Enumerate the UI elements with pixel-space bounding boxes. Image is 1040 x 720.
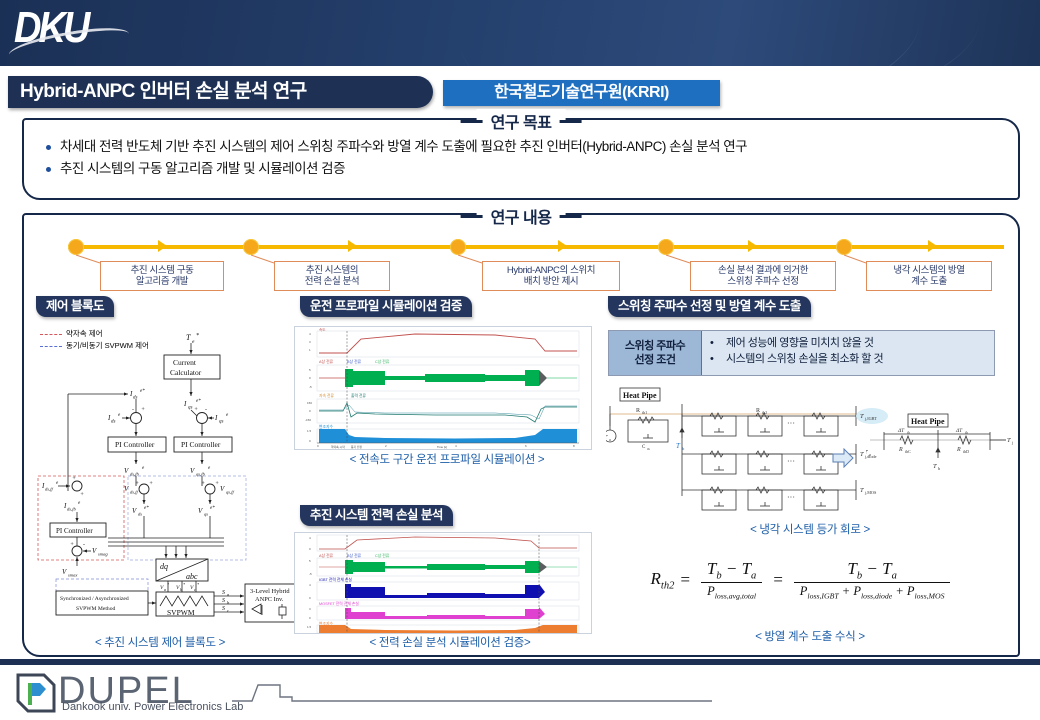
simplified-thermal-circuit: Heat Pipe R thC R thD ΔT th ΔT th T <box>866 392 1016 502</box>
svg-text:출력 전류: 출력 전류 <box>351 393 367 398</box>
svg-text:T: T <box>866 449 868 456</box>
list-item: 추진 시스템의 구동 알고리즘 개발 및 시뮬레이션 검증 <box>42 160 1008 178</box>
svg-text:-150: -150 <box>305 418 311 422</box>
svg-text:e: e <box>192 339 195 345</box>
svg-text:동기 전환: 동기 전환 <box>351 445 362 449</box>
list-item: 차세대 전력 반도체 기반 추진 시스템의 제어 스위칭 주파수와 방열 계수 … <box>42 138 1008 156</box>
svg-text:S: S <box>222 606 225 612</box>
svg-text:e: e <box>142 466 145 471</box>
svg-text:R: R <box>636 408 640 414</box>
svg-text:-: - <box>83 542 85 548</box>
dupel-mark-icon <box>14 671 58 715</box>
svg-text:ds,fb: ds,fb <box>67 507 77 513</box>
svg-text:smax: smax <box>68 573 77 578</box>
table-row: • 제어 성능에 영향을 미치치 않을 것 <box>710 335 988 351</box>
svg-text:SVPWM Method: SVPWM Method <box>76 606 116 612</box>
table-row: • 시스템의 스위칭 손실을 최소화 할 것 <box>710 351 988 367</box>
svg-text:PI Controller: PI Controller <box>115 440 155 449</box>
svg-text:C상 전류: C상 전류 <box>375 359 390 364</box>
svg-text:abc: abc <box>186 572 198 581</box>
timeline-label-3: Hybrid-ANPC의 스위치배치 방안 제시 <box>482 261 620 291</box>
svg-text:+: + <box>72 476 76 482</box>
condition-item-1: 제어 성능에 영향을 미치치 않을 것 <box>726 335 873 351</box>
svg-text:+: + <box>70 542 74 548</box>
svg-text:B상 전류: B상 전류 <box>347 553 362 558</box>
svg-text:+: + <box>141 407 145 413</box>
partner-badge-label: 한국철도기술연구원(KRRI) <box>443 80 720 106</box>
svg-text:T: T <box>860 413 864 420</box>
svg-text:Time [s]: Time [s] <box>437 445 447 449</box>
svg-text:dq: dq <box>160 562 168 571</box>
svg-text:+: + <box>194 407 198 413</box>
svg-text:0: 0 <box>309 439 311 443</box>
svg-text:0: 0 <box>317 444 319 448</box>
power-loss-plot: A상 전류 B상 전류 C상 전류 IGBT 전력 전체 손실 <box>294 532 592 634</box>
power-loss-svg: A상 전류 B상 전류 C상 전류 IGBT 전력 전체 손실 <box>295 533 591 633</box>
svg-text:Heat Pipe: Heat Pipe <box>623 391 657 400</box>
research-timeline: 추진 시스템 구동알고리즘 개발 추진 시스템의전력 손실 분석 Hybrid-… <box>38 229 1004 291</box>
section-badge-control-block: 제어 블록도 <box>36 296 114 317</box>
svg-text:thC: thC <box>905 449 911 454</box>
svg-text:ds: ds <box>111 420 116 425</box>
caption-formula: < 방열 계수 도출 수식 > <box>660 628 960 644</box>
timeline-label-5: 냉각 시스템의 방열계수 도출 <box>866 261 992 291</box>
svg-text:속도: 속도 <box>319 327 326 332</box>
svg-text:a: a <box>869 452 871 457</box>
slide-page: DKU Hybrid-ANPC 인버터 손실 분석 연구 한국철도기술연구원(K… <box>0 0 1040 720</box>
timeline-node-5 <box>836 239 852 255</box>
timeline-node-4 <box>658 239 674 255</box>
section-badge-label: 제어 블록도 <box>36 296 114 317</box>
svg-text:e: e <box>208 466 211 471</box>
svg-text:···: ··· <box>787 419 795 428</box>
svg-text:ΔT: ΔT <box>955 428 963 434</box>
svg-text:R: R <box>956 447 961 453</box>
timeline-node-3 <box>450 239 466 255</box>
research-goal-list: 차세대 전력 반도체 기반 추진 시스템의 제어 스위칭 주파수와 방열 계수 … <box>42 138 1008 182</box>
svg-text:a: a <box>609 437 611 442</box>
svg-text:PI Controller: PI Controller <box>181 440 221 449</box>
svg-text:B상 전류: B상 전류 <box>347 359 362 364</box>
svg-text:e*: e* <box>210 506 215 511</box>
svg-text:0: 0 <box>309 596 311 600</box>
timeline-arrow-1-icon <box>158 240 167 252</box>
svg-text:150: 150 <box>307 401 312 405</box>
svg-text:5: 5 <box>309 368 311 372</box>
svg-text:-: - <box>132 407 134 413</box>
svg-text:ds: ds <box>133 396 138 401</box>
svg-text:···: ··· <box>787 493 795 502</box>
caption-speed-profile: < 전속도 구간 운전 프로파일 시뮬레이션 > <box>322 451 572 467</box>
formula-denominator-1: Ploss,avg,total <box>701 582 762 601</box>
svg-text:th: th <box>907 431 910 435</box>
svg-text:MOSFET 전력 전체 손실: MOSFET 전력 전체 손실 <box>319 601 359 606</box>
formula-fraction-2: Tb − Ta Ploss,IGBT + Ploss,diode + Ploss… <box>794 559 951 601</box>
svg-text:b: b <box>180 587 182 592</box>
svg-text:ΔT: ΔT <box>897 428 905 434</box>
svg-text:ds,ff: ds,ff <box>130 490 139 496</box>
timeline-node-1 <box>68 239 84 255</box>
heat-dissipation-formula: Rth2 = Tb − Ta Ploss,avg,total = Tb − Ta… <box>610 552 996 608</box>
simplified-circuit-svg: Heat Pipe R thC R thD ΔT th ΔT th T <box>866 392 1016 502</box>
svg-text:3-Level Hybrid: 3-Level Hybrid <box>250 588 290 595</box>
svg-text:R: R <box>898 447 903 453</box>
svg-text:IGBT 전력 전체 손실: IGBT 전력 전체 손실 <box>319 577 352 582</box>
svg-text:e: e <box>56 481 59 486</box>
condition-item-2: 시스템의 스위칭 손실을 최소화 할 것 <box>726 351 883 367</box>
svg-text:-5: -5 <box>309 385 312 389</box>
block-diagram-svg: Te* Current Calculator Iqse* Idse* -+ Id… <box>36 326 304 624</box>
research-content-title: 연구 내용 <box>477 204 566 228</box>
svg-text:T: T <box>860 487 864 494</box>
svg-text:V: V <box>190 467 195 475</box>
top-banner: DKU <box>0 0 1040 66</box>
condition-table-body: • 제어 성능에 영향을 미치치 않을 것 • 시스템의 스위칭 손실을 최소화… <box>702 331 994 375</box>
svg-text:SVPWM: SVPWM <box>167 608 195 617</box>
svg-text:th: th <box>647 447 650 451</box>
svg-text:e*: e* <box>196 399 201 404</box>
svg-text:c: c <box>194 587 196 592</box>
section-badge-label: 스위칭 주파수 선정 및 방열 계수 도출 <box>608 296 811 317</box>
svg-text:V: V <box>124 485 129 493</box>
svg-text:+: + <box>135 481 139 487</box>
section-badge-profile-sim: 운전 프로파일 시뮬레이션 검증 <box>300 296 472 317</box>
formula-denominator-2: Ploss,IGBT + Ploss,diode + Ploss,MOS <box>794 582 951 601</box>
svg-text:e*: e* <box>140 389 145 394</box>
svg-text:V: V <box>124 467 129 475</box>
svg-text:V: V <box>92 547 97 555</box>
timeline-axis <box>68 245 1004 249</box>
goal-bullet-1: 차세대 전력 반도체 기반 추진 시스템의 제어 스위칭 주파수와 방열 계수 … <box>60 138 747 156</box>
svg-text:ds,ff: ds,ff <box>45 487 54 493</box>
dupel-tagline: Dankook univ. Power Electronics Lab <box>62 701 243 713</box>
caption-power-loss: < 전력 손실 분석 시뮬레이션 검증> <box>330 634 570 650</box>
svg-text:V: V <box>198 507 203 515</box>
svg-text:S: S <box>222 598 225 604</box>
svg-text:ds,fb: ds,fb <box>130 472 140 478</box>
svg-text:qs: qs <box>188 406 193 411</box>
svg-text:0: 0 <box>309 616 311 620</box>
svg-text:PI Controller: PI Controller <box>56 527 93 535</box>
svg-text:thD: thD <box>963 449 969 454</box>
svg-text:-5: -5 <box>309 572 312 576</box>
svg-text:*: * <box>167 582 169 587</box>
timeline-label-1: 추진 시스템 구동알고리즘 개발 <box>100 261 224 291</box>
switching-condition-table: 스위칭 주파수 선정 조건 • 제어 성능에 영향을 미치치 않을 것 • 시스… <box>608 330 995 376</box>
dku-logo: DKU <box>14 6 124 60</box>
svg-text:ds: ds <box>138 512 142 517</box>
footer: DUPEL Dankook univ. Power Electronics La… <box>0 659 1040 720</box>
svg-text:T: T <box>676 442 681 450</box>
svg-text:Heat Pipe: Heat Pipe <box>911 417 945 426</box>
svg-text:3: 3 <box>309 607 311 611</box>
speed-profile-svg: 속도 A상 전류 B상 전류 C상 전류 자속 전류 출력 전류 <box>295 327 591 449</box>
svg-text:T: T <box>606 435 608 441</box>
svg-text:5: 5 <box>309 559 311 563</box>
svg-text:*: * <box>197 582 199 587</box>
svg-text:C상 전류: C상 전류 <box>375 553 390 558</box>
svg-text:1: 1 <box>309 348 311 352</box>
svg-text:2: 2 <box>385 444 387 448</box>
footer-strip <box>0 659 1040 665</box>
timeline-arrow-2-icon <box>348 240 357 252</box>
svg-text:C: C <box>642 445 646 450</box>
page-title: Hybrid-ANPC 인버터 손실 분석 연구 <box>8 76 433 108</box>
svg-text:4: 4 <box>309 332 311 336</box>
speed-profile-plot: 속도 A상 전류 B상 전류 C상 전류 자속 전류 출력 전류 <box>294 326 592 450</box>
svg-text:e: e <box>118 413 121 418</box>
svg-text:e: e <box>226 413 229 418</box>
banner-swoosh-2 <box>456 0 985 66</box>
svg-text:T: T <box>860 451 864 458</box>
condition-header-line2: 선정 조건 <box>625 353 685 367</box>
svg-text:*: * <box>183 582 185 587</box>
svg-text:0: 0 <box>309 376 311 380</box>
svg-text:1.5: 1.5 <box>307 625 312 629</box>
svg-text:4: 4 <box>309 536 311 540</box>
timeline-label-2: 추진 시스템의전력 손실 분석 <box>274 261 390 291</box>
svg-text:qs,fb: qs,fb <box>196 472 206 478</box>
research-goal-title: 연구 목표 <box>477 109 566 133</box>
svg-text:0: 0 <box>309 409 311 413</box>
svg-text:e: e <box>78 501 81 506</box>
bullet-dot-icon: • <box>710 335 726 351</box>
svg-text:qs,ff: qs,ff <box>226 490 235 496</box>
control-block-diagram-figure: 약자속 제어 동기/비동기 SVPWM 제어 Te* <box>36 326 304 624</box>
svg-text:j: j <box>1011 440 1013 445</box>
svg-text:V: V <box>220 485 225 493</box>
svg-text:6: 6 <box>525 444 527 448</box>
svg-text:I: I <box>183 400 187 408</box>
svg-text:qs: qs <box>219 420 224 425</box>
timeline-arrow-5-icon <box>928 240 937 252</box>
section-badge-switching-freq: 스위칭 주파수 선정 및 방열 계수 도출 <box>608 296 811 317</box>
formula-fraction-1: Tb − Ta Ploss,avg,total <box>701 559 762 601</box>
svg-text:th: th <box>965 431 968 435</box>
svg-text:···: ··· <box>787 457 795 466</box>
transform-arrow-icon <box>832 448 854 473</box>
svg-text:b: b <box>938 466 940 471</box>
svg-text:c: c <box>227 608 229 613</box>
goal-bullet-2: 추진 시스템의 구동 알고리즘 개발 및 시뮬레이션 검증 <box>60 160 345 178</box>
timeline-arrow-4-icon <box>748 240 757 252</box>
svg-text:A상 전류: A상 전류 <box>319 553 334 558</box>
svg-text:T: T <box>933 463 937 470</box>
formula-numerator-2: Tb − Ta <box>841 559 902 582</box>
svg-text:Calculator: Calculator <box>170 368 202 377</box>
svg-text:S: S <box>222 590 225 596</box>
caption-thermal-circuit: < 냉각 시스템 등가 회로 > <box>660 521 960 537</box>
svg-text:e*: e* <box>144 506 149 511</box>
svg-text:A상 전류: A상 전류 <box>319 359 334 364</box>
timeline-arrow-3-icon <box>558 240 567 252</box>
svg-text:*: * <box>196 333 199 339</box>
svg-text:qs: qs <box>204 512 208 517</box>
svg-text:변조지수: 변조지수 <box>319 424 333 429</box>
timeline-label-4: 손실 분석 결과에 의거한스위칭 주파수 선정 <box>690 261 836 291</box>
section-badge-label: 운전 프로파일 시뮬레이션 검증 <box>300 296 472 317</box>
bullet-dot-icon: • <box>710 351 726 367</box>
caption-block-diagram: < 추진 시스템 제어 블록도 > <box>60 634 260 650</box>
svg-text:V: V <box>132 507 137 515</box>
partner-badge: 한국철도기술연구원(KRRI) <box>443 80 720 106</box>
research-goal-panel: 연구 목표 차세대 전력 반도체 기반 추진 시스템의 제어 스위칭 주파수와 … <box>22 118 1020 200</box>
svg-text:약자속 시작: 약자속 시작 <box>331 445 345 449</box>
svg-text:+: + <box>201 481 205 487</box>
formula-lhs: Rth2 <box>651 569 675 591</box>
section-badge-label: 추진 시스템 전력 손실 분석 <box>300 505 453 526</box>
svg-text:ANPC Inv.: ANPC Inv. <box>255 596 284 603</box>
svg-text:-: - <box>205 407 207 413</box>
svg-text:I: I <box>214 414 218 422</box>
condition-header-line1: 스위칭 주파수 <box>625 339 685 353</box>
slide-title-tab: Hybrid-ANPC 인버터 손실 분석 연구 <box>8 76 433 108</box>
bullet-dot-icon <box>46 145 51 150</box>
svg-text:T: T <box>1007 437 1011 444</box>
formula-numerator-1: Tb − Ta <box>701 559 762 582</box>
svg-text:4: 4 <box>455 444 457 448</box>
svg-text:4: 4 <box>309 583 311 587</box>
svg-text:T: T <box>186 333 191 342</box>
svg-text:a: a <box>164 587 166 592</box>
svg-text:+: + <box>80 492 84 498</box>
svg-text:smag: smag <box>98 552 108 557</box>
footer-wave-decoration <box>232 681 712 707</box>
condition-table-header: 스위칭 주파수 선정 조건 <box>609 331 702 375</box>
svg-text:Synchronized / Asynchronized: Synchronized / Asynchronized <box>60 596 129 602</box>
svg-text:0: 0 <box>309 547 311 551</box>
section-badge-power-loss: 추진 시스템 전력 손실 분석 <box>300 505 453 526</box>
svg-text:b: b <box>682 446 685 451</box>
svg-text:+: + <box>149 481 153 487</box>
svg-text:V: V <box>62 568 67 576</box>
timeline-node-2 <box>243 239 259 255</box>
svg-text:+: + <box>215 481 219 487</box>
svg-text:자속 전류: 자속 전류 <box>319 393 335 398</box>
svg-text:Current: Current <box>173 358 197 367</box>
svg-text:3: 3 <box>309 340 311 344</box>
svg-text:1.5: 1.5 <box>307 429 312 433</box>
svg-text:th1: th1 <box>642 410 647 415</box>
bullet-dot-icon <box>46 167 51 172</box>
svg-text:8: 8 <box>573 444 575 448</box>
